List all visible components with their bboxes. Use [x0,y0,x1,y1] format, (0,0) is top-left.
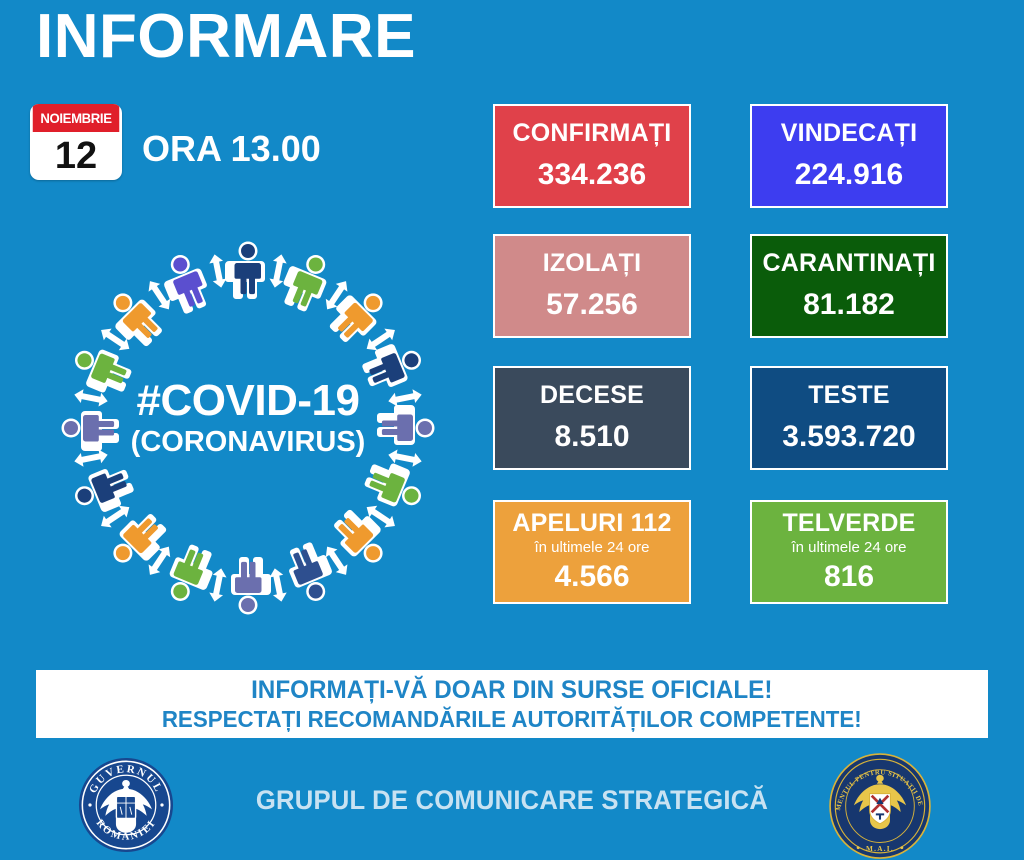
calendar-day: 12 [30,132,122,180]
stat-value-telverde: 816 [824,560,874,595]
stat-sublabel-telverde: în ultimele 24 ore [791,539,906,557]
stat-label-apeluri-112: APELURI 112 [512,510,671,538]
stat-label-telverde: TELVERDE [782,510,915,538]
stat-value-izolati: 57.256 [546,288,638,323]
stat-box-carantinati: CARANTINAȚI81.182 [750,234,948,338]
calendar-badge: NOIEMBRIE 12 [30,104,122,180]
dsu-logo: DEPARTAMENTUL PENTRU SITUAȚII DE URGENȚĂ… [828,752,932,858]
circle-people-ring-icon [48,228,448,628]
calendar-month: NOIEMBRIE [33,104,119,132]
stat-box-confirmati: CONFIRMAȚI334.236 [493,104,691,208]
stat-value-apeluri-112: 4.566 [554,560,629,595]
notice-line-1: INFORMAȚI-VĂ DOAR DIN SURSE OFICIALE! [251,676,772,705]
hour-label: ORA 13.00 [142,128,321,170]
stat-box-izolati: IZOLAȚI57.256 [493,234,691,338]
page-title: INFORMARE [36,4,416,69]
svg-text:M.A.I.: M.A.I. [866,845,894,853]
stat-box-teste: TESTE3.593.720 [750,366,948,470]
stat-value-vindecati: 224.916 [795,158,903,193]
stat-label-vindecati: VINDECAȚI [781,120,918,148]
social-distancing-circle-graphic: #COVID-19 (CORONAVIRUS) [48,228,448,628]
official-sources-notice: INFORMAȚI-VĂ DOAR DIN SURSE OFICIALE! RE… [36,670,988,738]
stat-value-decese: 8.510 [554,420,629,455]
stat-value-confirmati: 334.236 [538,158,646,193]
infographic-poster: INFORMARE NOIEMBRIE 12 ORA 13.00 [0,0,1024,860]
dsu-emergency-department-seal-icon: DEPARTAMENTUL PENTRU SITUAȚII DE URGENȚĂ… [828,752,932,860]
stat-label-decese: DECESE [540,382,644,410]
notice-line-2: RESPECTAȚI RECOMANDĂRILE AUTORITĂȚILOR C… [162,706,862,732]
stat-label-carantinati: CARANTINAȚI [762,250,935,278]
stat-sublabel-apeluri-112: în ultimele 24 ore [534,539,649,557]
stat-box-telverde: TELVERDEîn ultimele 24 ore816 [750,500,948,604]
stat-label-confirmati: CONFIRMAȚI [513,120,672,148]
stat-value-teste: 3.593.720 [782,420,915,455]
stat-label-izolati: IZOLAȚI [543,250,642,278]
stat-box-apeluri-112: APELURI 112în ultimele 24 ore4.566 [493,500,691,604]
stat-box-decese: DECESE8.510 [493,366,691,470]
stat-label-teste: TESTE [808,382,890,410]
stat-value-carantinati: 81.182 [803,288,895,323]
stat-box-vindecati: VINDECAȚI224.916 [750,104,948,208]
